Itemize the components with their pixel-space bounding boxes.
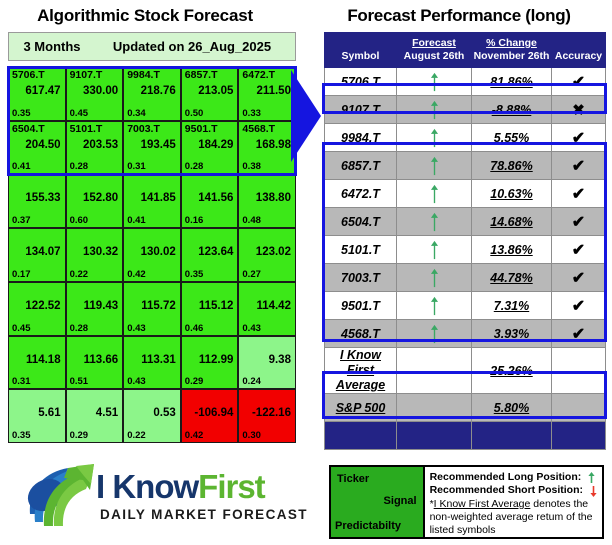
- green-up-arrow-icon: [429, 156, 440, 176]
- pct-change-value: 13.86%: [490, 243, 532, 257]
- cell-average-accuracy: [552, 348, 606, 394]
- legend-cell-diagram: Ticker Signal Predictabilty: [331, 467, 425, 537]
- pct-change-value: 3.93%: [494, 327, 529, 341]
- cross-icon: ✖: [572, 102, 585, 119]
- heatmap-cell: 115.720.43: [123, 282, 181, 336]
- cell-symbol: 9107.T: [325, 96, 397, 124]
- cell-pct-change: 14.68%: [472, 208, 552, 236]
- heatmap-cell: -122.160.30: [238, 389, 296, 443]
- heatmap-cell-value: 218.76: [141, 85, 176, 98]
- heatmap-cell-predictability: 0.45: [70, 108, 89, 119]
- legend-descriptions: Recommended Long Position: Recommended S…: [425, 467, 602, 537]
- heatmap-cell-predictability: 0.35: [12, 430, 31, 441]
- cell-symbol: 5101.T: [325, 236, 397, 264]
- pct-change-value: 5.55%: [494, 131, 529, 145]
- heatmap-cell-value: 213.05: [198, 85, 233, 98]
- forecast-horizon: 3 Months: [9, 39, 95, 54]
- check-icon: ✔: [572, 242, 585, 259]
- heatmap-cell: 138.800.48: [238, 174, 296, 228]
- heatmap-cell-predictability: 0.33: [242, 108, 261, 119]
- heatmap-cell: 114.180.31: [8, 336, 66, 390]
- cell-pct-change: 5.55%: [472, 124, 552, 152]
- heatmap-cell-predictability: 0.37: [12, 215, 31, 226]
- heatmap-cell-value: 211.50: [256, 85, 291, 98]
- cell-symbol: 5706.T: [325, 68, 397, 96]
- check-icon: ✔: [572, 298, 585, 315]
- table-body: 5706.T81.86%✔9107.T-8.88%✖9984.T5.55%✔68…: [325, 68, 606, 450]
- forecast-subheader: 3 Months Updated on 26_Aug_2025: [8, 32, 296, 61]
- heatmap-cell-value: 203.53: [83, 139, 118, 152]
- brand-logo: I KnowFirst DAILY MARKET FORECAST: [24, 462, 294, 536]
- heatmap-cell-value: 168.98: [256, 139, 291, 152]
- heatmap-cell-value: 115.72: [141, 300, 176, 313]
- heatmap-cell: 6857.T213.050.50: [181, 67, 239, 121]
- heatmap-cell-predictability: 0.17: [12, 269, 31, 280]
- heatmap-cell-predictability: 0.41: [12, 161, 31, 172]
- heatmap-cell-value: 115.12: [199, 300, 234, 313]
- heatmap-cell-value: 112.99: [199, 354, 234, 367]
- heatmap-cell-value: 122.52: [25, 300, 60, 313]
- cell-benchmark-pct: 5.80%: [472, 394, 552, 422]
- cell-pct-change: 81.86%: [472, 68, 552, 96]
- heatmap-cell: 141.560.16: [181, 174, 239, 228]
- heatmap-cell: -106.940.42: [181, 389, 239, 443]
- heatmap-cell-predictability: 0.45: [12, 323, 31, 334]
- heatmap-cell-predictability: 0.43: [127, 376, 146, 387]
- heatmap-cell-predictability: 0.42: [185, 430, 204, 441]
- heatmap-cell-value: 155.33: [25, 192, 60, 205]
- legend-footnote: *I Know First Average denotes the non-we…: [430, 498, 598, 537]
- forecast-heatmap: 5706.T617.470.359107.T330.000.459984.T21…: [8, 67, 296, 443]
- footer-cell: [552, 422, 606, 450]
- heatmap-cell-value: 114.42: [256, 300, 291, 313]
- red-down-arrow-icon: [589, 485, 598, 497]
- table-footer-strip: [325, 422, 606, 450]
- heatmap-cell-value: 193.45: [141, 139, 176, 152]
- green-up-arrow-icon: [587, 472, 596, 484]
- green-up-arrow-icon: [429, 268, 440, 288]
- pct-change-value: 81.86%: [490, 75, 532, 89]
- cell-accuracy-check: ✔: [552, 236, 606, 264]
- heatmap-cell: 0.530.22: [123, 389, 181, 443]
- cell-accuracy-cross: ✖: [552, 96, 606, 124]
- table-row: 9984.T5.55%✔: [325, 124, 606, 152]
- cell-accuracy-check: ✔: [552, 320, 606, 348]
- heatmap-cell-value: -106.94: [194, 407, 233, 420]
- pct-change-value: 78.86%: [490, 159, 532, 173]
- table-row: 9107.T-8.88%✖: [325, 96, 606, 124]
- pct-change-value: 14.68%: [490, 215, 532, 229]
- heatmap-cell-value: 141.85: [141, 192, 176, 205]
- cell-average-label: I Know FirstAverage: [325, 348, 397, 394]
- column-header-forecast: Forecast August 26th: [397, 33, 472, 68]
- heatmap-cell-value: 123.02: [256, 246, 291, 259]
- logo-swoosh-icon: [24, 462, 98, 532]
- page-title: Algorithmic Stock Forecast: [0, 6, 290, 26]
- heatmap-cell-value: 617.47: [25, 85, 60, 98]
- heatmap-cell: 112.990.29: [181, 336, 239, 390]
- heatmap-cell: 123.020.27: [238, 228, 296, 282]
- heatmap-cell-predictability: 0.29: [70, 430, 89, 441]
- cell-benchmark-accuracy: [552, 394, 606, 422]
- heatmap-cell: 7003.T193.450.31: [123, 121, 181, 175]
- table-row: 6504.T14.68%✔: [325, 208, 606, 236]
- green-up-arrow-icon: [429, 100, 440, 120]
- cell-symbol: 6857.T: [325, 152, 397, 180]
- heatmap-cell: 114.420.43: [238, 282, 296, 336]
- heatmap-cell: 152.800.60: [66, 174, 124, 228]
- heatmap-cell-ticker: 7003.T: [127, 123, 160, 135]
- heatmap-cell-value: 184.29: [198, 139, 233, 152]
- logo-wordmark: I KnowFirst: [96, 468, 265, 506]
- heatmap-cell-value: 123.64: [198, 246, 233, 259]
- heatmap-cell-value: -122.16: [252, 407, 291, 420]
- heatmap-cell-predictability: 0.28: [70, 323, 89, 334]
- table-row: 5101.T13.86%✔: [325, 236, 606, 264]
- heatmap-cell-ticker: 6472.T: [242, 69, 275, 81]
- heatmap-cell: 130.020.42: [123, 228, 181, 282]
- table-row: 6857.T78.86%✔: [325, 152, 606, 180]
- heatmap-cell-predictability: 0.28: [70, 161, 89, 172]
- heatmap-cell-value: 114.18: [26, 354, 61, 367]
- heatmap-cell-ticker: 5706.T: [12, 69, 45, 81]
- heatmap-cell-ticker: 4568.T: [242, 123, 275, 135]
- green-up-arrow-icon: [429, 72, 440, 92]
- heatmap-cell: 113.660.51: [66, 336, 124, 390]
- cell-symbol: 7003.T: [325, 264, 397, 292]
- heatmap-cell-predictability: 0.30: [242, 430, 261, 441]
- green-up-arrow-icon: [429, 184, 440, 204]
- cell-forecast-signal: [397, 96, 472, 124]
- footer-cell: [397, 422, 472, 450]
- heatmap-cell-value: 134.07: [25, 246, 60, 259]
- heatmap-cell-predictability: 0.31: [12, 376, 31, 387]
- heatmap-cell-value: 130.32: [83, 246, 118, 259]
- green-up-arrow-icon: [429, 324, 440, 344]
- heatmap-cell-predictability: 0.35: [12, 108, 31, 119]
- heatmap-cell: 9107.T330.000.45: [66, 67, 124, 121]
- legend-long-position: Recommended Long Position:: [430, 471, 598, 484]
- table-header-row: Symbol Forecast August 26th % Change Nov…: [325, 33, 606, 68]
- heatmap-cell: 5.610.35: [8, 389, 66, 443]
- heatmap-cell-predictability: 0.50: [185, 108, 204, 119]
- heatmap-cell-ticker: 9107.T: [70, 69, 103, 81]
- cell-pct-change: 44.78%: [472, 264, 552, 292]
- cell-pct-change: 78.86%: [472, 152, 552, 180]
- heatmap-cell-predictability: 0.60: [70, 215, 89, 226]
- column-header-accuracy: Accuracy: [552, 33, 606, 68]
- heatmap-cell: 9984.T218.760.34: [123, 67, 181, 121]
- cell-average-pct: 25.26%: [472, 348, 552, 394]
- heatmap-cell-value: 119.43: [84, 300, 119, 313]
- heatmap-cell: 119.430.28: [66, 282, 124, 336]
- green-up-arrow-icon: [429, 296, 440, 316]
- heatmap-cell-value: 204.50: [25, 139, 60, 152]
- heatmap-cell-ticker: 5101.T: [70, 123, 103, 135]
- cell-benchmark-forecast: [397, 394, 472, 422]
- heatmap-cell-predictability: 0.43: [127, 323, 146, 334]
- cell-forecast-signal: [397, 236, 472, 264]
- heatmap-cell-predictability: 0.28: [185, 161, 204, 172]
- heatmap-cell: 113.310.43: [123, 336, 181, 390]
- heatmap-cell-predictability: 0.29: [185, 376, 204, 387]
- heatmap-cell-value: 141.56: [198, 192, 233, 205]
- forecast-updated-date: Updated on 26_Aug_2025: [95, 39, 295, 54]
- cell-pct-change: 13.86%: [472, 236, 552, 264]
- heatmap-cell-predictability: 0.16: [185, 215, 204, 226]
- heatmap-cell-predictability: 0.42: [127, 269, 146, 280]
- table-row: 6472.T10.63%✔: [325, 180, 606, 208]
- heatmap-cell-value: 113.31: [141, 354, 176, 367]
- heatmap-cell-predictability: 0.35: [185, 269, 204, 280]
- cell-pct-change: 7.31%: [472, 292, 552, 320]
- legend-label-predictability: Predictabilty: [335, 520, 401, 532]
- cell-forecast-signal: [397, 292, 472, 320]
- check-icon: ✔: [572, 158, 585, 175]
- cell-forecast-signal: [397, 68, 472, 96]
- check-icon: ✔: [572, 214, 585, 231]
- heatmap-cell-value: 113.66: [84, 354, 119, 367]
- forecast-performance-panel: Forecast Performance (long) Symbol Forec…: [306, 0, 612, 545]
- cell-forecast-signal: [397, 180, 472, 208]
- heatmap-cell: 6504.T204.500.41: [8, 121, 66, 175]
- logo-text-green: First: [198, 468, 265, 505]
- check-icon: ✔: [572, 270, 585, 287]
- heatmap-cell-predictability: 0.34: [127, 108, 146, 119]
- heatmap-cell-predictability: 0.48: [242, 215, 261, 226]
- green-up-arrow-icon: [429, 212, 440, 232]
- heatmap-cell-predictability: 0.27: [242, 269, 261, 280]
- heatmap-cell-value: 0.53: [153, 407, 175, 420]
- legend-label-ticker: Ticker: [337, 473, 369, 485]
- cell-pct-change: 3.93%: [472, 320, 552, 348]
- table-row-average: I Know FirstAverage25.26%: [325, 348, 606, 394]
- check-icon: ✔: [572, 130, 585, 147]
- heatmap-cell-value: 138.80: [256, 192, 291, 205]
- heatmap-cell: 115.120.46: [181, 282, 239, 336]
- heatmap-cell: 134.070.17: [8, 228, 66, 282]
- heatmap-cell: 5101.T203.530.28: [66, 121, 124, 175]
- algorithmic-forecast-panel: Algorithmic Stock Forecast 3 Months Upda…: [0, 0, 306, 455]
- table-row: 7003.T44.78%✔: [325, 264, 606, 292]
- heatmap-cell: 9501.T184.290.28: [181, 121, 239, 175]
- heatmap-cell: 155.330.37: [8, 174, 66, 228]
- table-row-benchmark: S&P 5005.80%: [325, 394, 606, 422]
- cell-accuracy-check: ✔: [552, 124, 606, 152]
- table-row: 5706.T81.86%✔: [325, 68, 606, 96]
- heatmap-cell: 123.640.35: [181, 228, 239, 282]
- average-label-line2: Average: [325, 378, 396, 393]
- footer-cell: [472, 422, 552, 450]
- column-header-symbol: Symbol: [325, 33, 397, 68]
- heatmap-cell: 130.320.22: [66, 228, 124, 282]
- forecast-report: Algorithmic Stock Forecast 3 Months Upda…: [0, 0, 612, 545]
- cell-accuracy-check: ✔: [552, 292, 606, 320]
- heatmap-cell-ticker: 6857.T: [185, 69, 218, 81]
- heatmap-cell-ticker: 9501.T: [185, 123, 218, 135]
- heatmap-cell: 4.510.29: [66, 389, 124, 443]
- heatmap-cell-value: 130.02: [141, 246, 176, 259]
- heatmap-cell-value: 330.00: [83, 85, 118, 98]
- table-row: 9501.T7.31%✔: [325, 292, 606, 320]
- cell-average-forecast: [397, 348, 472, 394]
- check-icon: ✔: [572, 186, 585, 203]
- heatmap-cell-predictability: 0.22: [70, 269, 89, 280]
- pct-change-value: 10.63%: [490, 187, 532, 201]
- heatmap-cell-value: 152.80: [83, 192, 118, 205]
- column-header-pct-change: % Change November 26th: [472, 33, 552, 68]
- heatmap-cell-predictability: 0.22: [127, 430, 146, 441]
- heatmap-cell-predictability: 0.41: [127, 215, 146, 226]
- cell-accuracy-check: ✔: [552, 68, 606, 96]
- heatmap-cell: 9.380.24: [238, 336, 296, 390]
- logo-text-dark: I Know: [96, 468, 198, 505]
- cell-accuracy-check: ✔: [552, 152, 606, 180]
- heatmap-cell-predictability: 0.46: [185, 323, 204, 334]
- cell-symbol: 9501.T: [325, 292, 397, 320]
- cell-pct-change: -8.88%: [472, 96, 552, 124]
- legend-short-position: Recommended Short Position:: [430, 484, 598, 497]
- cell-accuracy-check: ✔: [552, 264, 606, 292]
- heatmap-cell-predictability: 0.31: [127, 161, 146, 172]
- performance-table: Symbol Forecast August 26th % Change Nov…: [324, 32, 606, 450]
- cell-symbol: 6472.T: [325, 180, 397, 208]
- cell-symbol: 9984.T: [325, 124, 397, 152]
- pct-change-value: 44.78%: [490, 271, 532, 285]
- green-up-arrow-icon: [429, 128, 440, 148]
- heatmap-cell-predictability: 0.38: [242, 161, 261, 172]
- footer-cell: [325, 422, 397, 450]
- heatmap-cell-value: 4.51: [96, 407, 118, 420]
- cell-forecast-signal: [397, 124, 472, 152]
- cell-accuracy-check: ✔: [552, 180, 606, 208]
- heatmap-cell-predictability: 0.51: [70, 376, 89, 387]
- cell-symbol: 4568.T: [325, 320, 397, 348]
- heatmap-cell-ticker: 6504.T: [12, 123, 45, 135]
- cell-forecast-signal: [397, 208, 472, 236]
- average-label-line1: I Know First: [325, 348, 396, 378]
- check-icon: ✔: [572, 326, 585, 343]
- cell-pct-change: 10.63%: [472, 180, 552, 208]
- heatmap-cell-value: 5.61: [38, 407, 60, 420]
- heatmap-cell-ticker: 9984.T: [127, 69, 160, 81]
- cell-symbol: 6504.T: [325, 208, 397, 236]
- heatmap-cell: 141.850.41: [123, 174, 181, 228]
- check-icon: ✔: [572, 74, 585, 91]
- cell-accuracy-check: ✔: [552, 208, 606, 236]
- heatmap-cell-value: 9.38: [269, 354, 291, 367]
- pct-change-value: -8.88%: [492, 103, 532, 117]
- cell-benchmark-label: S&P 500: [325, 394, 397, 422]
- average-pct-value: 25.26%: [490, 364, 532, 378]
- pct-change-value: 7.31%: [494, 299, 529, 313]
- heatmap-cell: 5706.T617.470.35: [8, 67, 66, 121]
- green-up-arrow-icon: [429, 240, 440, 260]
- heatmap-cell-predictability: 0.43: [242, 323, 261, 334]
- performance-title: Forecast Performance (long): [306, 6, 612, 26]
- cell-forecast-signal: [397, 152, 472, 180]
- table-row: 4568.T3.93%✔: [325, 320, 606, 348]
- heatmap-cell-predictability: 0.24: [242, 376, 261, 387]
- logo-subtitle: DAILY MARKET FORECAST: [100, 507, 308, 522]
- legend-box: Ticker Signal Predictabilty Recommended …: [329, 465, 604, 539]
- table-header: Symbol Forecast August 26th % Change Nov…: [325, 33, 606, 68]
- cell-forecast-signal: [397, 264, 472, 292]
- legend-label-signal: Signal: [384, 495, 417, 507]
- heatmap-cell: 122.520.45: [8, 282, 66, 336]
- cell-forecast-signal: [397, 320, 472, 348]
- benchmark-pct-value: 5.80%: [494, 401, 529, 415]
